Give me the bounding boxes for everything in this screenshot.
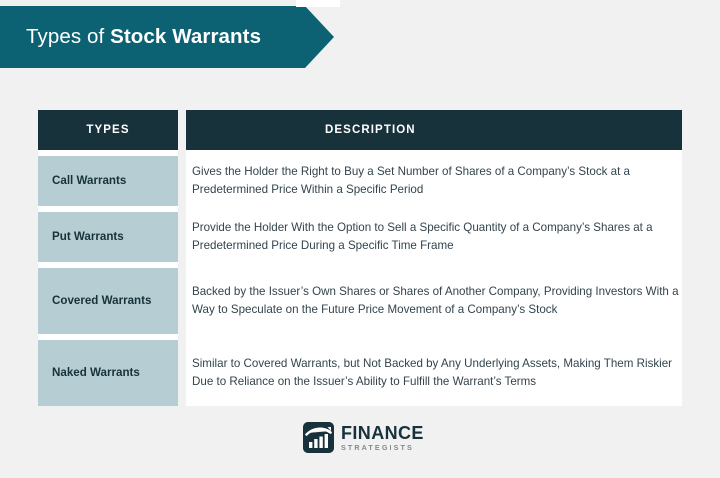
banner-notch	[296, 0, 340, 7]
table-row: Naked Warrants Similar to Covered Warran…	[38, 340, 682, 406]
table-header-row: TYPES DESCRIPTION	[38, 110, 682, 150]
table-row: Call Warrants Gives the Holder the Right…	[38, 156, 682, 206]
title-light-part: Types of	[26, 25, 110, 48]
page-title: Types of Stock Warrants	[0, 27, 261, 48]
title-bold-part: Stock Warrants	[110, 25, 261, 48]
row-type-label: Put Warrants	[38, 212, 178, 262]
brand-logo: FINANCE STRATEGISTS	[303, 422, 424, 453]
infographic-canvas: Types of Stock Warrants TYPES DESCRIPTIO…	[0, 0, 720, 478]
brand-subtitle: STRATEGISTS	[341, 444, 424, 451]
row-type-label: Call Warrants	[38, 156, 178, 206]
row-type-label: Covered Warrants	[38, 268, 178, 334]
row-description: Backed by the Issuer’s Own Shares or Sha…	[186, 268, 682, 334]
warrant-types-table: TYPES DESCRIPTION Call Warrants Gives th…	[38, 110, 682, 406]
row-description: Provide the Holder With the Option to Se…	[186, 212, 682, 262]
brand-wordmark: FINANCE STRATEGISTS	[341, 424, 424, 451]
table-row: Put Warrants Provide the Holder With the…	[38, 212, 682, 262]
column-header-description: DESCRIPTION	[186, 110, 682, 150]
brand-name: FINANCE	[341, 424, 424, 442]
bar-chart-arrow-icon	[303, 422, 334, 453]
column-header-types: TYPES	[38, 110, 178, 150]
row-description: Similar to Covered Warrants, but Not Bac…	[186, 340, 682, 406]
title-banner: Types of Stock Warrants	[0, 6, 334, 68]
row-description: Gives the Holder the Right to Buy a Set …	[186, 156, 682, 206]
table-row: Covered Warrants Backed by the Issuer’s …	[38, 268, 682, 334]
row-type-label: Naked Warrants	[38, 340, 178, 406]
